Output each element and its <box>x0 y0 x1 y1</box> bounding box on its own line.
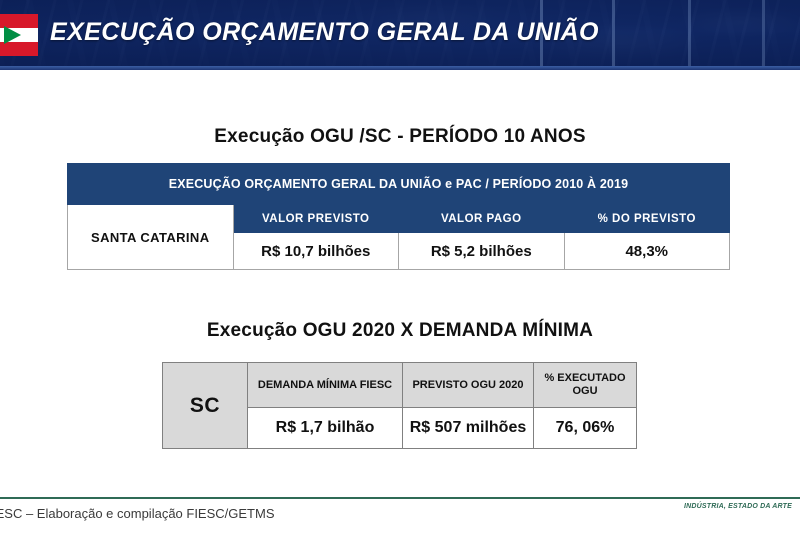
section-title-ogu-2020-demanda-minima: Execução OGU 2020 X DEMANDA MÍNIMA <box>0 320 800 342</box>
table-row: SC DEMANDA MÍNIMA FIESC PREVISTO OGU 202… <box>163 363 637 408</box>
table-two-col-percent-executado: % EXECUTADO OGU <box>534 363 637 408</box>
table-two-row-label: SC <box>163 363 248 449</box>
table-one-row-label: SANTA CATARINA <box>68 205 234 270</box>
table-one-value-valor-pago: R$ 5,2 bilhões <box>399 233 565 270</box>
footer-divider <box>0 497 800 499</box>
table-one-banner-header: EXECUÇÃO ORÇAMENTO GERAL DA UNIÃO e PAC … <box>68 164 730 205</box>
table-two-col-demanda-minima: DEMANDA MÍNIMA FIESC <box>248 363 403 408</box>
footer-source-note: IESC – Elaboração e compilação FIESC/GET… <box>0 506 275 521</box>
table-two-value-demanda-minima: R$ 1,7 bilhão <box>248 408 403 449</box>
header-banner: EXECUÇÃO ORÇAMENTO GERAL DA UNIÃO <box>0 0 800 70</box>
flag-band-bottom <box>0 42 38 56</box>
table-one-col-valor-pago: VALOR PAGO <box>399 205 565 233</box>
table-one-col-percent-previsto: % DO PREVISTO <box>564 205 730 233</box>
table-ogu-2020-demanda-minima: SC DEMANDA MÍNIMA FIESC PREVISTO OGU 202… <box>162 362 637 449</box>
table-ogu-periodo-10-anos: EXECUÇÃO ORÇAMENTO GERAL DA UNIÃO e PAC … <box>67 163 730 270</box>
table-two-value-previsto-ogu-2020: R$ 507 milhões <box>403 408 534 449</box>
table-one-col-valor-previsto: VALOR PREVISTO <box>233 205 399 233</box>
flag-green-lozenge <box>4 26 21 44</box>
table-row: EXECUÇÃO ORÇAMENTO GERAL DA UNIÃO e PAC … <box>68 164 730 205</box>
header-bottom-rule <box>0 66 800 70</box>
table-one-value-percent-previsto: 48,3% <box>564 233 730 270</box>
table-two-col-previsto-ogu-2020: PREVISTO OGU 2020 <box>403 363 534 408</box>
table-one-value-valor-previsto: R$ 10,7 bilhões <box>233 233 399 270</box>
table-two-value-percent-executado: 76, 06% <box>534 408 637 449</box>
table-row: SANTA CATARINA VALOR PREVISTO VALOR PAGO… <box>68 205 730 233</box>
page-title: EXECUÇÃO ORÇAMENTO GERAL DA UNIÃO <box>50 18 599 47</box>
santa-catarina-flag-icon <box>0 14 38 56</box>
section-title-ogu-10-anos: Execução OGU /SC - PERÍODO 10 ANOS <box>0 126 800 148</box>
fiesc-slogan: INDÚSTRIA, ESTADO DA ARTE <box>684 503 792 510</box>
